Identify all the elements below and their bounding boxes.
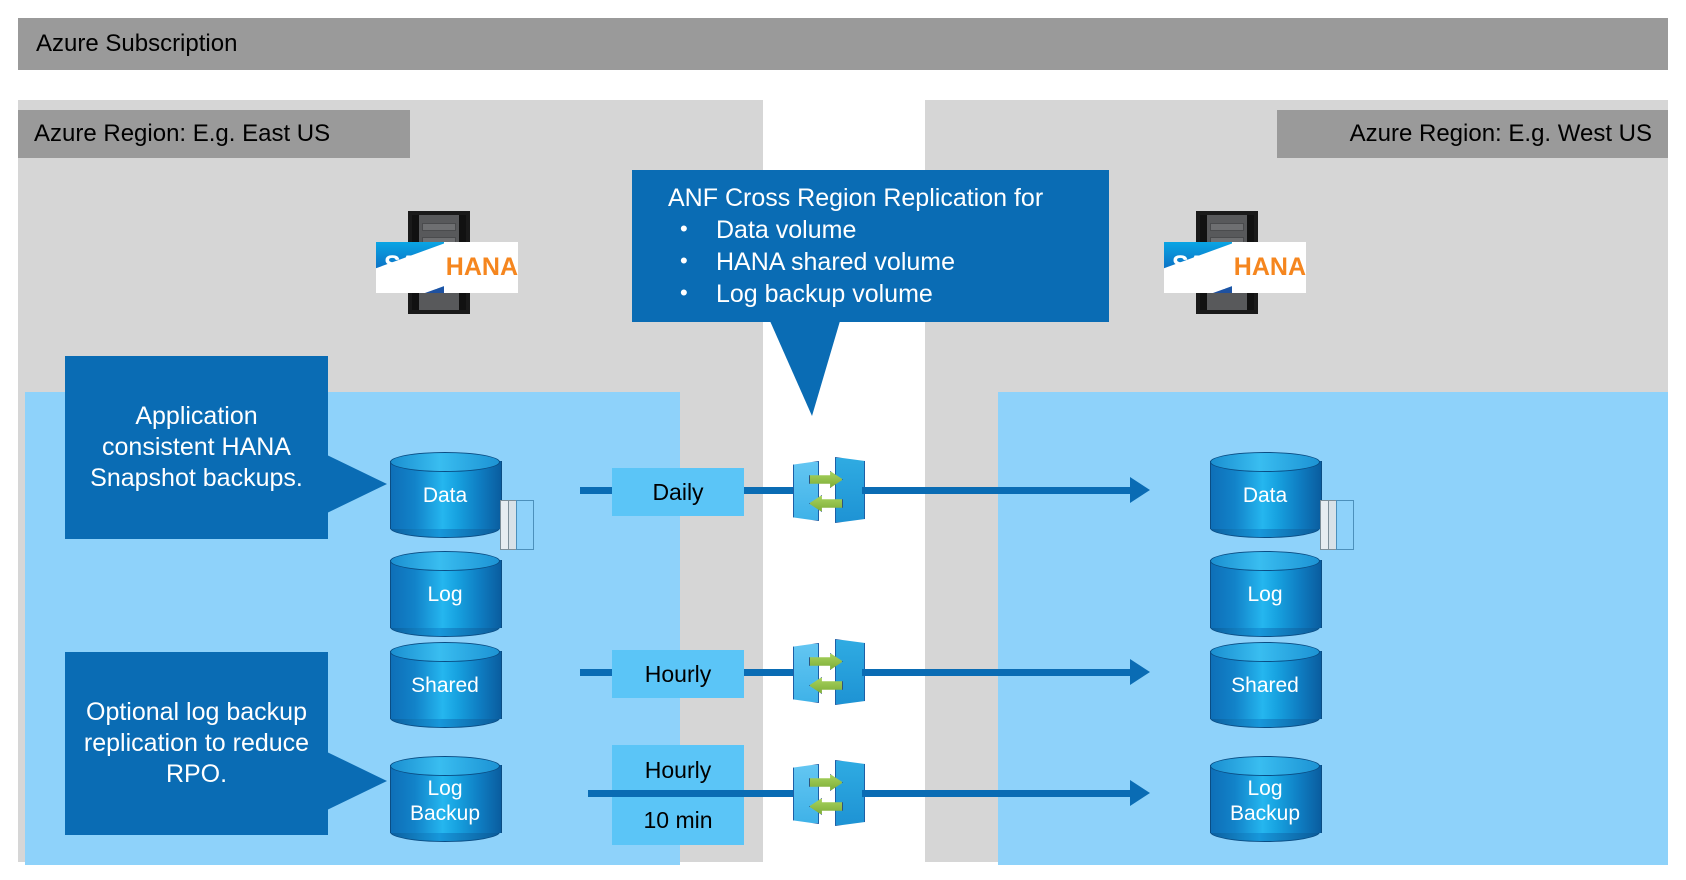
callout-replication-item-1: HANA shared volume <box>674 246 1093 278</box>
sap-wordmark-left: SAP <box>384 251 432 280</box>
schedule-daily-label: Daily <box>612 468 744 516</box>
connector-logbackup-left <box>588 790 800 797</box>
volume-left-data: Data <box>390 452 500 538</box>
callout-snapshot-text: Application consistent HANA Snapshot bac… <box>79 401 314 494</box>
schedule-hourly-shared-label: Hourly <box>612 650 744 698</box>
volume-right-log-backup: Log Backup <box>1210 756 1320 842</box>
callout-replication-item-2: Log backup volume <box>674 278 1093 310</box>
volume-left-log-backup-line1: Log <box>427 777 462 800</box>
connector-data-right <box>862 487 1137 494</box>
cross-region-replication-icon-data <box>793 455 865 527</box>
callout-replication-title: ANF Cross Region Replication for <box>648 182 1093 214</box>
volume-right-shared: Shared <box>1210 642 1320 728</box>
callout-log-backup-text: Optional log backup replication to reduc… <box>79 697 314 790</box>
callout-snapshot: Application consistent HANA Snapshot bac… <box>65 356 328 539</box>
volume-left-shared: Shared <box>390 642 500 728</box>
connector-logbackup-right <box>862 790 1137 797</box>
cross-region-replication-icon-logbackup <box>793 758 865 830</box>
volume-left-log-backup-label: Log Backup <box>390 756 500 844</box>
callout-replication-item-0: Data volume <box>674 214 1093 246</box>
volume-left-log-label: Log <box>390 551 500 637</box>
connector-shared-mid <box>744 669 800 676</box>
callout-log-backup: Optional log backup replication to reduc… <box>65 652 328 835</box>
volume-right-log-backup-line2: Backup <box>1230 802 1300 825</box>
arrowhead-shared <box>1130 659 1150 685</box>
sap-hana-logo-right: SAP ® HANA <box>1164 242 1306 293</box>
diagram-canvas: Azure Subscription Azure Region: E.g. Ea… <box>0 0 1686 880</box>
volume-right-log-backup-label: Log Backup <box>1210 756 1320 844</box>
hana-wordmark-right: HANA <box>1232 242 1306 293</box>
callout-replication-list: Data volume HANA shared volume Log backu… <box>648 214 1093 310</box>
snapshot-icon-right <box>1320 500 1354 550</box>
hana-wordmark-left: HANA <box>444 242 518 293</box>
cross-region-replication-icon-shared <box>793 637 865 709</box>
volume-left-shared-label: Shared <box>390 642 500 728</box>
schedule-logbackup-line1: Hourly <box>612 745 744 795</box>
volume-right-data-label: Data <box>1210 452 1320 538</box>
volume-right-log: Log <box>1210 551 1320 637</box>
arrowhead-logbackup <box>1130 780 1150 806</box>
region-title-right: Azure Region: E.g. West US <box>1277 110 1668 158</box>
volume-left-data-label: Data <box>390 452 500 538</box>
connector-data-mid <box>744 487 800 494</box>
azure-subscription-label: Azure Subscription <box>18 30 237 58</box>
volume-left-log: Log <box>390 551 500 637</box>
region-title-left: Azure Region: E.g. East US <box>18 110 410 158</box>
schedule-logbackup-line2: 10 min <box>612 795 744 845</box>
volume-right-shared-label: Shared <box>1210 642 1320 728</box>
registered-mark-left: ® <box>433 284 438 291</box>
schedule-hourly-shared: Hourly <box>612 650 744 698</box>
sap-hana-logo-left: SAP ® HANA <box>376 242 518 293</box>
volume-left-log-backup: Log Backup <box>390 756 500 842</box>
callout-replication-tail <box>770 321 840 416</box>
registered-mark-right: ® <box>1221 284 1226 291</box>
volume-right-data: Data <box>1210 452 1320 538</box>
snapshot-icon-left <box>500 500 534 550</box>
region-left-label: Azure Region: E.g. East US <box>18 120 330 148</box>
volume-right-log-label: Log <box>1210 551 1320 637</box>
volume-right-log-backup-line1: Log <box>1247 777 1282 800</box>
volume-left-log-backup-line2: Backup <box>410 802 480 825</box>
region-right-label: Azure Region: E.g. West US <box>1350 120 1668 148</box>
connector-shared-right <box>862 669 1137 676</box>
callout-replication: ANF Cross Region Replication for Data vo… <box>632 170 1109 322</box>
schedule-daily: Daily <box>612 468 744 516</box>
arrowhead-data <box>1130 477 1150 503</box>
sap-wordmark-right: SAP <box>1172 251 1220 280</box>
azure-subscription-banner: Azure Subscription <box>18 18 1668 70</box>
